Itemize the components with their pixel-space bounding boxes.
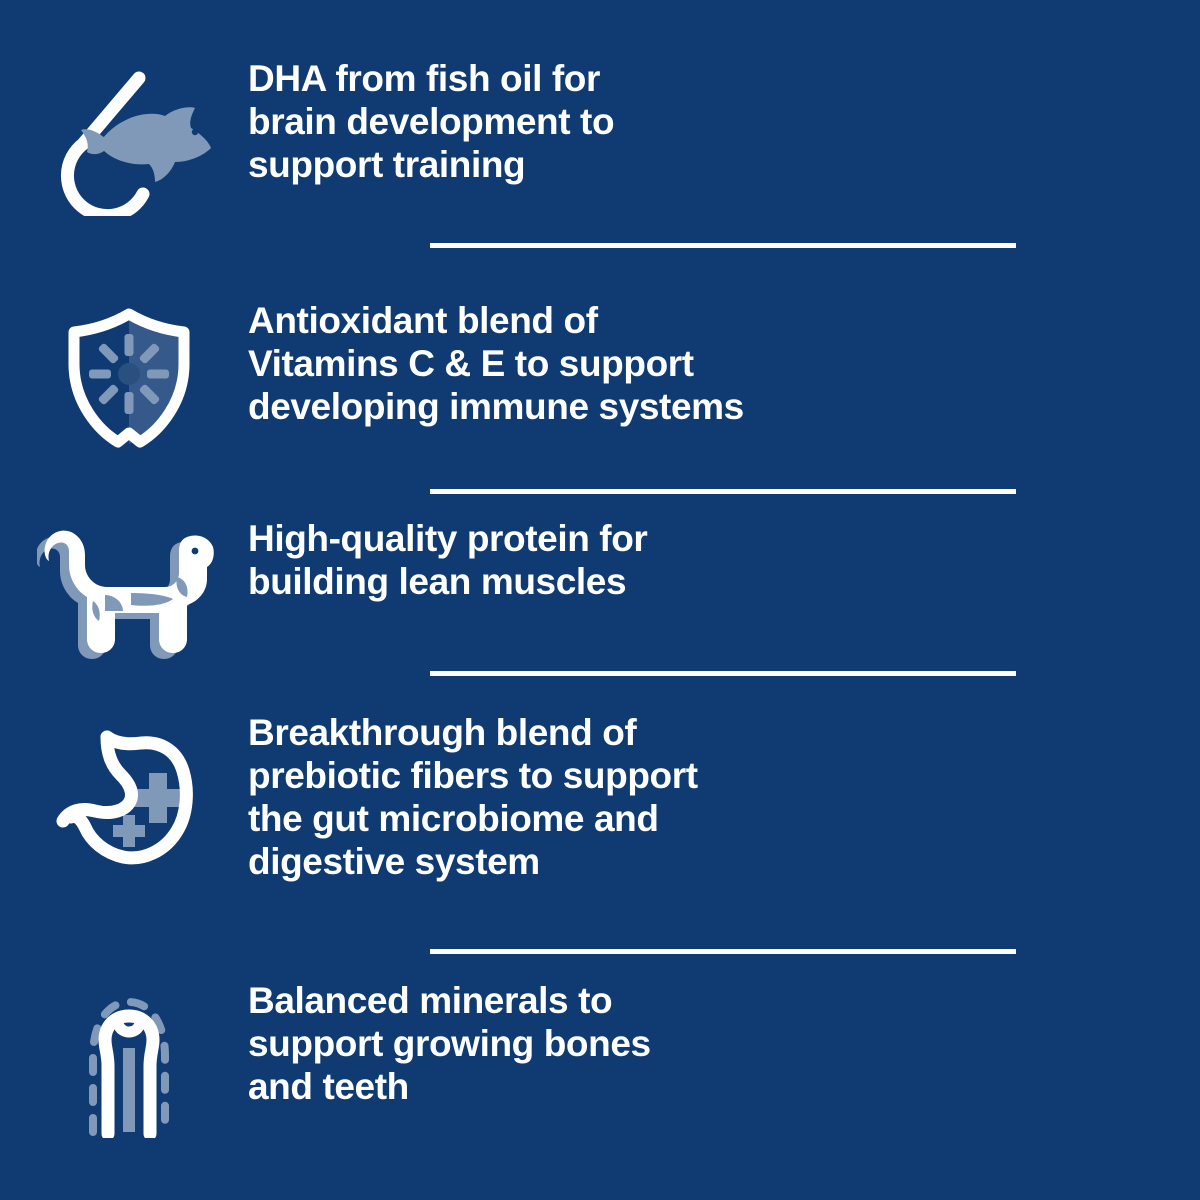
benefit-row-antioxidant: Antioxidant blend of Vitamins C & E to s… [0,300,1200,460]
benefit-text-cell: Breakthrough blend of prebiotic fibers t… [240,712,840,884]
benefit-text: Antioxidant blend of Vitamins C & E to s… [248,300,840,429]
bone-icon [63,982,195,1138]
benefit-text: Breakthrough blend of prebiotic fibers t… [248,712,840,884]
benefit-divider [430,243,1016,248]
shield-burst-icon [54,302,204,458]
benefit-text: High-quality protein for building lean m… [248,518,840,604]
benefit-divider [430,949,1016,954]
benefit-icon-cell [0,980,240,1140]
benefit-row-protein: High-quality protein for building lean m… [0,518,1200,668]
benefit-divider [430,671,1016,676]
benefit-text-cell: DHA from fish oil for brain development … [240,58,840,187]
benefit-row-prebiotic: Breakthrough blend of prebiotic fibers t… [0,712,1200,884]
benefit-row-minerals: Balanced minerals to support growing bon… [0,980,1200,1140]
benefit-text: DHA from fish oil for brain development … [248,58,840,187]
benefit-icon-cell [0,712,240,882]
benefit-icon-cell [0,518,240,668]
benefit-text-cell: Balanced minerals to support growing bon… [240,980,840,1109]
benefit-divider [430,489,1016,494]
benefit-text-cell: Antioxidant blend of Vitamins C & E to s… [240,300,840,429]
benefit-icon-cell [0,300,240,460]
benefits-panel: DHA from fish oil for brain development … [0,0,1200,1200]
benefit-text-cell: High-quality protein for building lean m… [240,518,840,604]
stomach-plus-icon [49,719,209,875]
benefit-text: Balanced minerals to support growing bon… [248,980,840,1109]
dog-muscle-icon [37,521,221,665]
benefit-list: DHA from fish oil for brain development … [0,0,1200,1200]
benefit-row-dha: DHA from fish oil for brain development … [0,58,1200,218]
benefit-icon-cell [0,58,240,218]
fish-droplet-icon [43,60,215,216]
